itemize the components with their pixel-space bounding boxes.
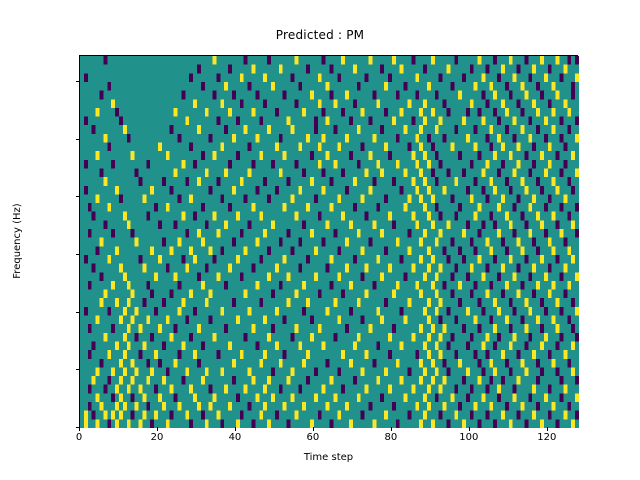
x-tick-mark: [313, 427, 314, 431]
x-tick-label: 120: [537, 432, 556, 443]
x-tick-mark: [469, 427, 470, 431]
x-tick-mark: [547, 427, 548, 431]
x-tick-label: 60: [307, 432, 320, 443]
y-tick-mark: [76, 81, 80, 82]
heatmap-axes: [79, 55, 578, 427]
x-tick-mark: [235, 427, 236, 431]
y-tick-mark: [76, 312, 80, 313]
x-tick-mark: [391, 427, 392, 431]
x-tick-label: 0: [76, 432, 82, 443]
y-tick-mark: [76, 369, 80, 370]
y-tick-mark: [76, 196, 80, 197]
x-tick-mark: [157, 427, 158, 431]
y-tick-mark: [76, 254, 80, 255]
y-axis-label: Frequency (Hz): [12, 55, 26, 427]
x-tick-label: 80: [385, 432, 398, 443]
heatmap-image: [80, 56, 579, 428]
x-axis-label: Time step: [79, 452, 578, 463]
page-title: Predicted : PM: [0, 28, 640, 42]
x-tick-label: 100: [459, 432, 478, 443]
y-tick-mark: [76, 139, 80, 140]
x-tick-label: 40: [229, 432, 242, 443]
x-tick-mark: [79, 427, 80, 431]
matplotlib-figure: Predicted : PM 0200004000060000800001000…: [0, 0, 640, 480]
x-tick-label: 20: [151, 432, 164, 443]
